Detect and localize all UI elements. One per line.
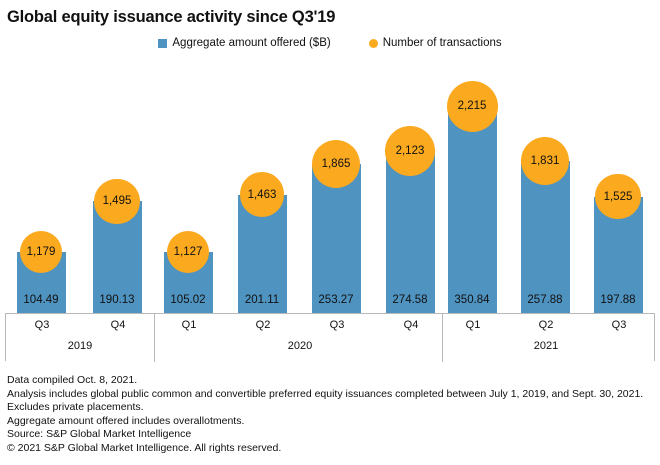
axis-quarter-label: Q3	[307, 319, 367, 331]
bar-value-label: 105.02	[148, 294, 228, 306]
axis-quarter-label: Q1	[443, 319, 503, 331]
legend-item-aggregate-amount: Aggregate amount offered ($B)	[158, 37, 330, 49]
axis-quarter-label: Q2	[516, 319, 576, 331]
axis-year-label: 2021	[506, 340, 586, 352]
axis-quarter-label: Q3	[12, 319, 72, 331]
bubble-q4-2020: 2,123	[385, 126, 435, 176]
category-axis: Q3Q4Q1Q2Q3Q4Q1Q2Q3201920202021	[5, 313, 655, 361]
footnote-line-2: Analysis includes global public common a…	[7, 388, 655, 415]
bubble-q2-2021: 1,831	[521, 137, 569, 185]
bar-value-label: 197.88	[578, 294, 658, 306]
bubble-q1-2021: 2,215	[447, 81, 498, 132]
footnote-line-3: Aggregate amount offered includes overal…	[7, 415, 655, 429]
legend-label-transactions: Number of transactions	[383, 37, 502, 49]
bar-value-label: 190.13	[77, 294, 157, 306]
footnote-line-4: Source: S&P Global Market Intelligence	[7, 428, 655, 442]
axis-quarter-label: Q2	[233, 319, 293, 331]
chart-page: Global equity issuance activity since Q3…	[0, 0, 660, 465]
bubble-q3-2021: 1,525	[595, 174, 640, 219]
bar-q1-2021	[448, 106, 497, 314]
axis-year-label: 2019	[40, 340, 120, 352]
bubble-q1-2020: 1,127	[167, 231, 209, 273]
circle-icon	[369, 39, 378, 48]
axis-quarter-label: Q4	[88, 319, 148, 331]
square-icon	[158, 39, 167, 48]
footnote-line-5: © 2021 S&P Global Market Intelligence. A…	[7, 442, 655, 456]
axis-quarter-label: Q3	[589, 319, 649, 331]
footnote-line-1: Data compiled Oct. 8, 2021.	[7, 374, 655, 388]
axis-quarter-label: Q1	[159, 319, 219, 331]
axis-group-separator	[442, 314, 443, 362]
legend-label-aggregate-amount: Aggregate amount offered ($B)	[172, 37, 330, 49]
chart-footnotes: Data compiled Oct. 8, 2021. Analysis inc…	[7, 374, 655, 456]
chart-legend: Aggregate amount offered ($B) Number of …	[0, 37, 660, 49]
bubble-q4-2019: 1,495	[94, 179, 139, 224]
bubble-q3-2020: 1,865	[312, 140, 360, 188]
bar-value-label: 201.11	[222, 294, 302, 306]
bar-value-label: 253.27	[296, 294, 376, 306]
axis-year-label: 2020	[260, 340, 340, 352]
axis-group-separator	[154, 314, 155, 362]
bar-value-label: 257.88	[505, 294, 585, 306]
bar-value-label: 350.84	[432, 294, 512, 306]
axis-quarter-label: Q4	[381, 319, 441, 331]
legend-item-transactions: Number of transactions	[369, 37, 502, 49]
bar-value-label: 104.49	[1, 294, 81, 306]
plot-area: 104.49190.13105.02201.11253.27274.58350.…	[0, 58, 660, 314]
bubble-q2-2020: 1,463	[240, 172, 285, 217]
page-title: Global equity issuance activity since Q3…	[7, 8, 335, 27]
